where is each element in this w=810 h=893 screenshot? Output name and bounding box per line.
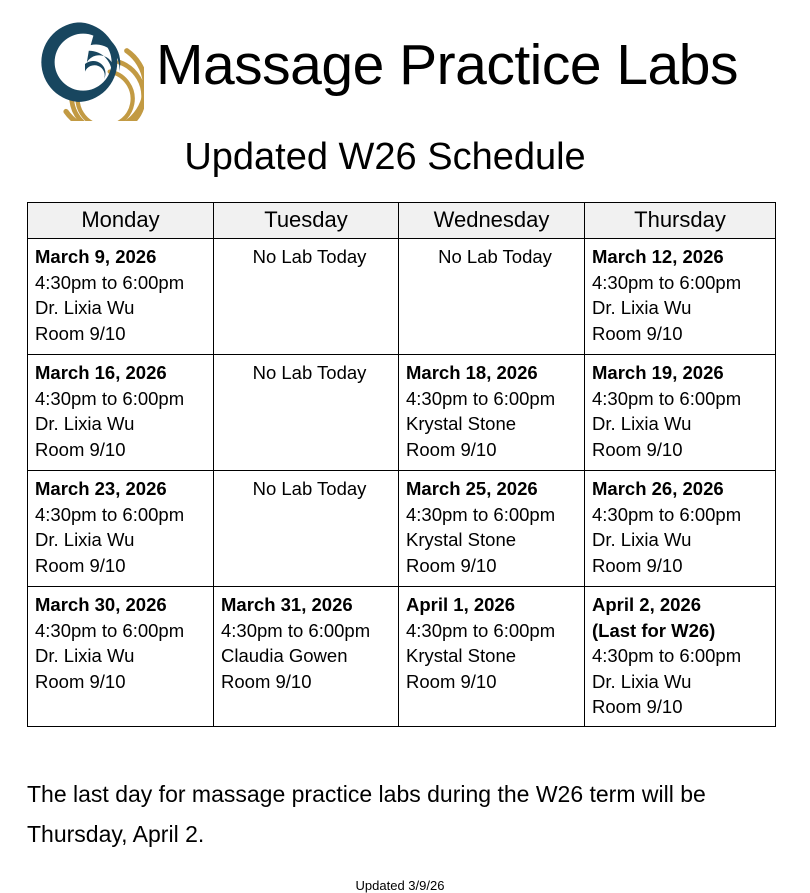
session-instructor: Dr. Lixia Wu — [592, 527, 775, 553]
updated-stamp: Updated 3/9/26 — [0, 878, 810, 893]
page-title: Massage Practice Labs — [156, 37, 738, 94]
table-cell-session: April 2, 2026(Last for W26)4:30pm to 6:0… — [585, 587, 776, 727]
session-date: March 18, 2026 — [406, 360, 584, 386]
column-header-tuesday: Tuesday — [214, 203, 399, 239]
table-cell-session: March 31, 20264:30pm to 6:00pmClaudia Go… — [214, 587, 399, 727]
session-time: 4:30pm to 6:00pm — [592, 643, 775, 669]
session-date: March 23, 2026 — [35, 476, 213, 502]
no-lab-label: No Lab Today — [253, 478, 367, 499]
table-cell-session: March 19, 20264:30pm to 6:00pmDr. Lixia … — [585, 355, 776, 471]
session-room: Room 9/10 — [35, 553, 213, 579]
session-time: 4:30pm to 6:00pm — [221, 618, 398, 644]
session-instructor: Dr. Lixia Wu — [592, 669, 775, 695]
session-time: 4:30pm to 6:00pm — [592, 270, 775, 296]
table-row: March 16, 20264:30pm to 6:00pmDr. Lixia … — [28, 355, 776, 471]
session-date: April 1, 2026 — [406, 592, 584, 618]
schedule-table: Monday Tuesday Wednesday Thursday March … — [27, 202, 776, 727]
table-cell-no-lab: No Lab Today — [399, 239, 585, 355]
session-instructor: Dr. Lixia Wu — [592, 411, 775, 437]
session-room: Room 9/10 — [592, 553, 775, 579]
table-cell-session: March 26, 20264:30pm to 6:00pmDr. Lixia … — [585, 471, 776, 587]
session-time: 4:30pm to 6:00pm — [592, 502, 775, 528]
session-room: Room 9/10 — [406, 553, 584, 579]
session-instructor: Krystal Stone — [406, 527, 584, 553]
no-lab-label: No Lab Today — [253, 246, 367, 267]
table-row: March 30, 20264:30pm to 6:00pmDr. Lixia … — [28, 587, 776, 727]
session-room: Room 9/10 — [35, 321, 213, 347]
table-cell-no-lab: No Lab Today — [214, 355, 399, 471]
session-instructor: Dr. Lixia Wu — [35, 643, 213, 669]
last-day-notice: The last day for massage practice labs d… — [27, 775, 727, 854]
session-time: 4:30pm to 6:00pm — [35, 270, 213, 296]
session-date: March 31, 2026 — [221, 592, 398, 618]
session-instructor: Krystal Stone — [406, 411, 584, 437]
no-lab-label: No Lab Today — [438, 246, 552, 267]
session-instructor: Dr. Lixia Wu — [592, 295, 775, 321]
table-cell-session: March 16, 20264:30pm to 6:00pmDr. Lixia … — [28, 355, 214, 471]
session-room: Room 9/10 — [406, 669, 584, 695]
table-cell-session: April 1, 20264:30pm to 6:00pmKrystal Sto… — [399, 587, 585, 727]
session-time: 4:30pm to 6:00pm — [406, 618, 584, 644]
session-time: 4:30pm to 6:00pm — [35, 386, 213, 412]
session-date: April 2, 2026 — [592, 592, 775, 618]
session-instructor: Claudia Gowen — [221, 643, 398, 669]
session-time: 4:30pm to 6:00pm — [592, 386, 775, 412]
massage-practice-labs-spiral-logo — [26, 9, 144, 121]
table-row: March 23, 20264:30pm to 6:00pmDr. Lixia … — [28, 471, 776, 587]
session-time: 4:30pm to 6:00pm — [406, 386, 584, 412]
table-cell-session: March 25, 20264:30pm to 6:00pmKrystal St… — [399, 471, 585, 587]
session-date: March 16, 2026 — [35, 360, 213, 386]
table-cell-session: March 30, 20264:30pm to 6:00pmDr. Lixia … — [28, 587, 214, 727]
session-date: March 26, 2026 — [592, 476, 775, 502]
page-header: Massage Practice Labs — [0, 0, 810, 118]
schedule-subtitle: Updated W26 Schedule — [0, 138, 810, 176]
table-cell-session: March 12, 20264:30pm to 6:00pmDr. Lixia … — [585, 239, 776, 355]
session-date: March 19, 2026 — [592, 360, 775, 386]
table-header-row: Monday Tuesday Wednesday Thursday — [28, 203, 776, 239]
session-date: March 9, 2026 — [35, 244, 213, 270]
session-instructor: Dr. Lixia Wu — [35, 295, 213, 321]
session-time: 4:30pm to 6:00pm — [35, 618, 213, 644]
session-room: Room 9/10 — [35, 437, 213, 463]
table-cell-session: March 18, 20264:30pm to 6:00pmKrystal St… — [399, 355, 585, 471]
column-header-wednesday: Wednesday — [399, 203, 585, 239]
no-lab-label: No Lab Today — [253, 362, 367, 383]
session-instructor: Krystal Stone — [406, 643, 584, 669]
session-room: Room 9/10 — [221, 669, 398, 695]
session-instructor: Dr. Lixia Wu — [35, 527, 213, 553]
schedule-table-container: Monday Tuesday Wednesday Thursday March … — [27, 202, 775, 727]
session-time: 4:30pm to 6:00pm — [406, 502, 584, 528]
session-date: March 30, 2026 — [35, 592, 213, 618]
table-cell-no-lab: No Lab Today — [214, 239, 399, 355]
session-time: 4:30pm to 6:00pm — [35, 502, 213, 528]
session-instructor: Dr. Lixia Wu — [35, 411, 213, 437]
session-room: Room 9/10 — [406, 437, 584, 463]
session-room: Room 9/10 — [592, 321, 775, 347]
session-room: Room 9/10 — [592, 437, 775, 463]
column-header-monday: Monday — [28, 203, 214, 239]
table-cell-session: March 9, 20264:30pm to 6:00pmDr. Lixia W… — [28, 239, 214, 355]
table-row: March 9, 20264:30pm to 6:00pmDr. Lixia W… — [28, 239, 776, 355]
table-cell-session: March 23, 20264:30pm to 6:00pmDr. Lixia … — [28, 471, 214, 587]
column-header-thursday: Thursday — [585, 203, 776, 239]
session-date: March 25, 2026 — [406, 476, 584, 502]
schedule-table-body: March 9, 20264:30pm to 6:00pmDr. Lixia W… — [28, 239, 776, 727]
session-note: (Last for W26) — [592, 618, 775, 644]
table-cell-no-lab: No Lab Today — [214, 471, 399, 587]
session-room: Room 9/10 — [35, 669, 213, 695]
session-room: Room 9/10 — [592, 694, 775, 720]
session-date: March 12, 2026 — [592, 244, 775, 270]
